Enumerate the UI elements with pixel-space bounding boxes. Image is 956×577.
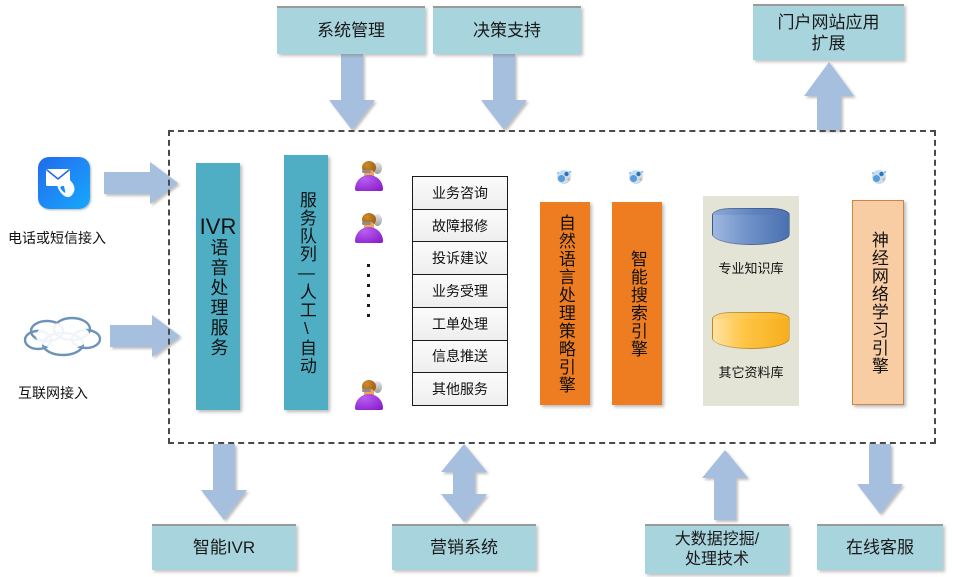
service-list-item[interactable]: 业务受理: [413, 275, 507, 308]
service-queue-box[interactable]: 服务队列—人工\自动: [284, 155, 328, 410]
top-box-portal-extension-line1: 门户网站应用: [778, 12, 880, 33]
arrow-portal-up: [804, 62, 854, 130]
arrow-system-management-down: [329, 54, 375, 130]
bottom-box-marketing-system[interactable]: 营销系统: [392, 524, 536, 570]
nlp-engine-box[interactable]: 自然语言处理策略引擎: [540, 202, 590, 405]
arrow-decision-support-down: [481, 54, 527, 130]
service-list-item[interactable]: 业务咨询: [413, 177, 507, 210]
top-box-decision-support[interactable]: 决策支持: [433, 6, 581, 54]
agent-icon: [355, 161, 383, 191]
search-engine-box[interactable]: 智能搜索引擎: [612, 202, 662, 405]
bottom-box-online-service[interactable]: 在线客服: [817, 524, 943, 570]
ivr-box-latin: IVR: [200, 215, 237, 238]
top-box-system-management-label: 系统管理: [317, 20, 385, 41]
service-list-item[interactable]: 投诉建议: [413, 242, 507, 275]
service-queue-label: 服务队列—人工\自动: [297, 191, 315, 375]
nlp-engine-label: 自然语言处理策略引擎: [556, 214, 574, 394]
diagram-canvas: 系统管理 决策支持 门户网站应用 扩展 电话或短信接入 互联网接入: [0, 0, 956, 577]
other-data-db-label: 其它资料库: [703, 362, 799, 381]
ivr-box[interactable]: IVR 语音处理服务: [196, 163, 240, 410]
sparkle-icon: [625, 166, 647, 188]
pro-knowledge-db-cylinder: [712, 208, 790, 245]
service-list-item[interactable]: 工单处理: [413, 308, 507, 341]
knowledge-base-panel: 专业知识库 其它资料库: [703, 196, 799, 406]
top-box-decision-support-label: 决策支持: [473, 20, 541, 41]
bottom-box-smart-ivr-label: 智能IVR: [193, 537, 255, 558]
service-list-table: 业务咨询 故障报修 投诉建议 业务受理 工单处理 信息推送 其他服务: [412, 176, 508, 406]
agents-ellipsis: [367, 264, 370, 317]
search-engine-label: 智能搜索引擎: [628, 250, 646, 358]
arrow-phone-to-core: [104, 162, 178, 204]
pro-knowledge-db-label: 专业知识库: [703, 258, 799, 277]
arrow-marketing-bidirectional: [441, 444, 487, 522]
phone-sms-label: 电话或短信接入: [8, 228, 106, 248]
service-list-item[interactable]: 信息推送: [413, 341, 507, 374]
top-box-system-management[interactable]: 系统管理: [277, 6, 425, 54]
top-box-portal-extension[interactable]: 门户网站应用 扩展: [753, 4, 904, 60]
neural-engine-box[interactable]: 神经网络学习引擎: [852, 200, 904, 405]
service-list-item[interactable]: 故障报修: [413, 210, 507, 243]
arrow-big-data-up: [702, 450, 748, 520]
sparkle-icon: [868, 166, 890, 188]
phone-sms-icon: [38, 157, 90, 209]
agent-icon: [355, 380, 383, 410]
ivr-box-label: 语音处理服务: [209, 238, 228, 358]
sparkle-icon: [553, 166, 575, 188]
bottom-box-big-data-line2: 处理技术: [685, 550, 749, 570]
bottom-box-marketing-system-label: 营销系统: [430, 537, 498, 558]
top-box-portal-extension-line2: 扩展: [812, 33, 846, 54]
bottom-box-big-data-line1: 大数据挖掘/: [675, 530, 759, 550]
bottom-box-online-service-label: 在线客服: [846, 537, 914, 558]
neural-engine-label: 神经网络学习引擎: [869, 231, 887, 375]
bottom-box-big-data[interactable]: 大数据挖掘/ 处理技术: [645, 524, 789, 574]
arrow-online-service-down: [857, 444, 903, 514]
internet-label: 互联网接入: [18, 383, 88, 403]
arrow-smart-ivr-down: [201, 444, 247, 520]
agent-icon: [355, 213, 383, 243]
service-list-item[interactable]: 其他服务: [413, 373, 507, 405]
other-data-db-cylinder: [712, 312, 790, 349]
bottom-box-smart-ivr[interactable]: 智能IVR: [152, 524, 296, 570]
cloud-icon: [20, 310, 106, 362]
